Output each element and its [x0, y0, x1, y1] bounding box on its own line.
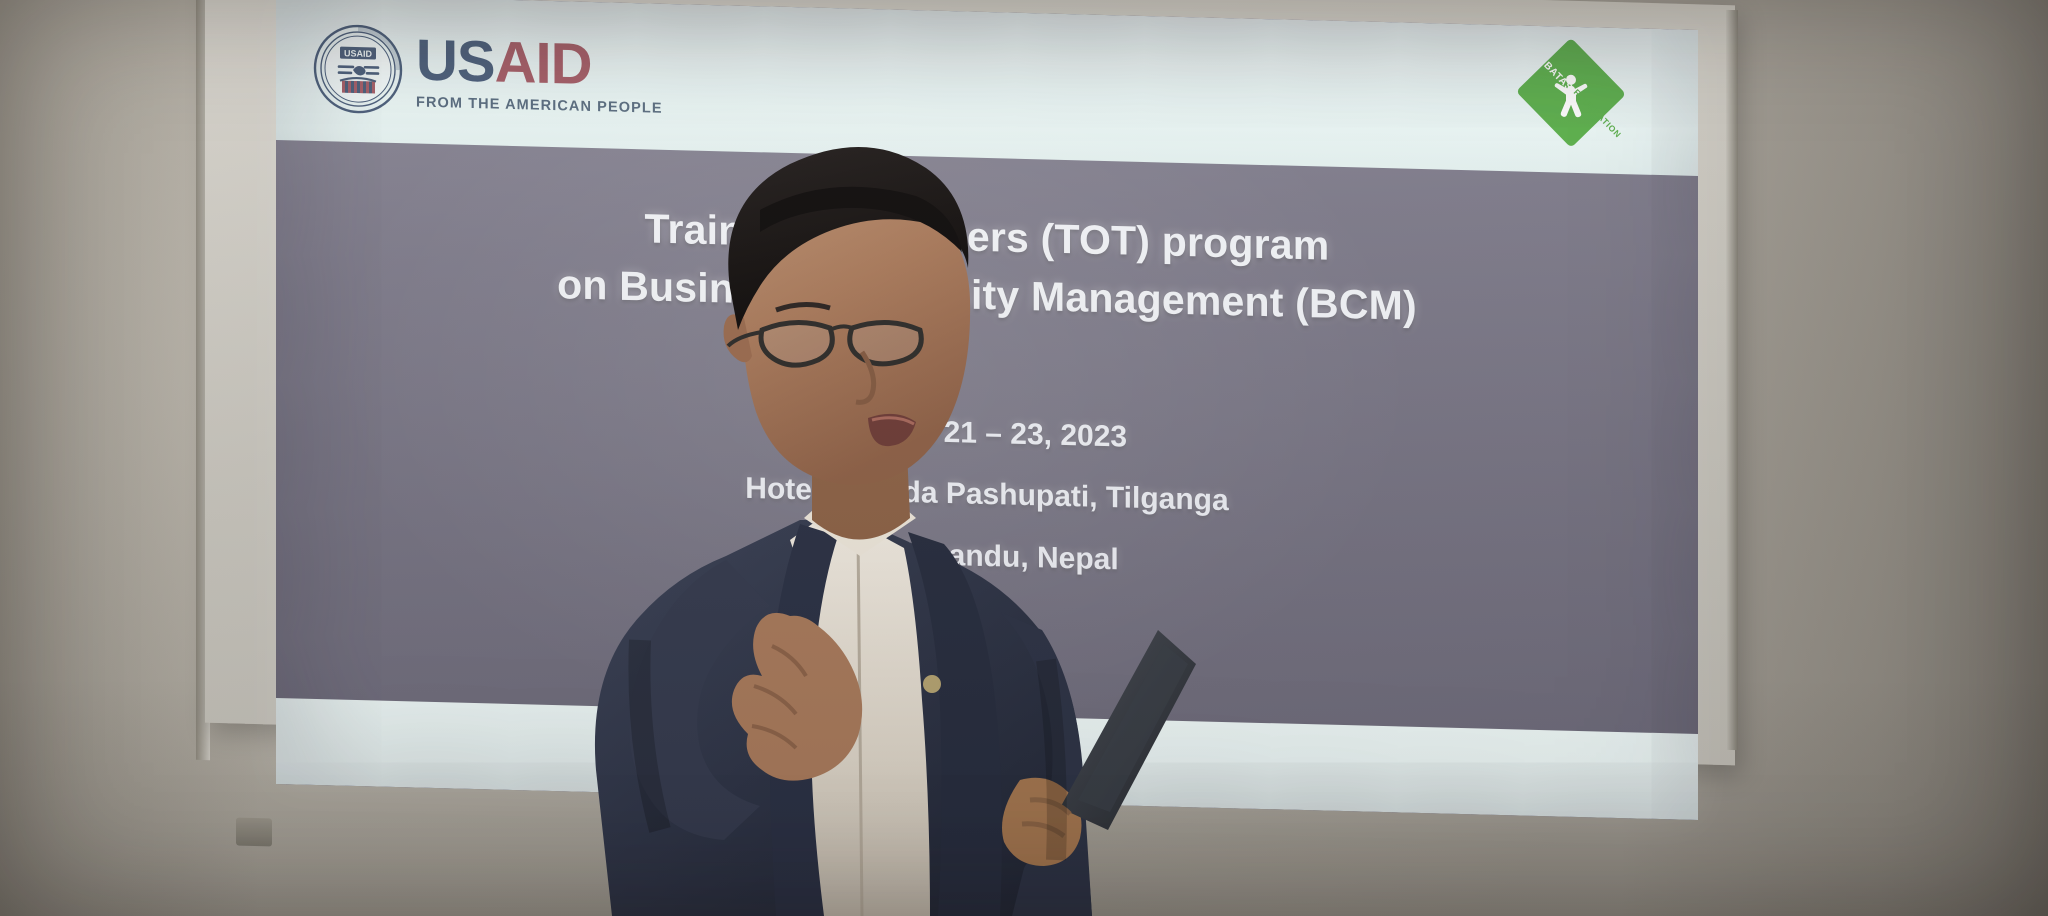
whiteboard-clip	[236, 817, 272, 846]
usaid-seal-icon: USAID	[312, 22, 404, 116]
usaid-wordmark: USAID FROM THE AMERICAN PEOPLE	[416, 31, 663, 116]
photo-scene: USAID	[0, 0, 2048, 916]
whiteboard-right-edge	[1726, 10, 1738, 750]
usaid-word-us: US	[416, 27, 495, 94]
batas-foundation-logo: BATAS FOUNDATION	[1518, 44, 1626, 155]
projected-slide-area: USAID	[276, 0, 1698, 820]
projected-slide: USAID	[276, 0, 1698, 820]
slide-meta: March 21 – 23, 2023 Hotel Ananda Pashupa…	[276, 392, 1698, 612]
usaid-word-aid: AID	[495, 29, 592, 96]
usaid-tagline: FROM THE AMERICAN PEOPLE	[416, 95, 663, 116]
usaid-word: USAID	[416, 31, 663, 95]
svg-text:USAID: USAID	[344, 48, 372, 59]
usaid-logo: USAID	[312, 22, 663, 123]
